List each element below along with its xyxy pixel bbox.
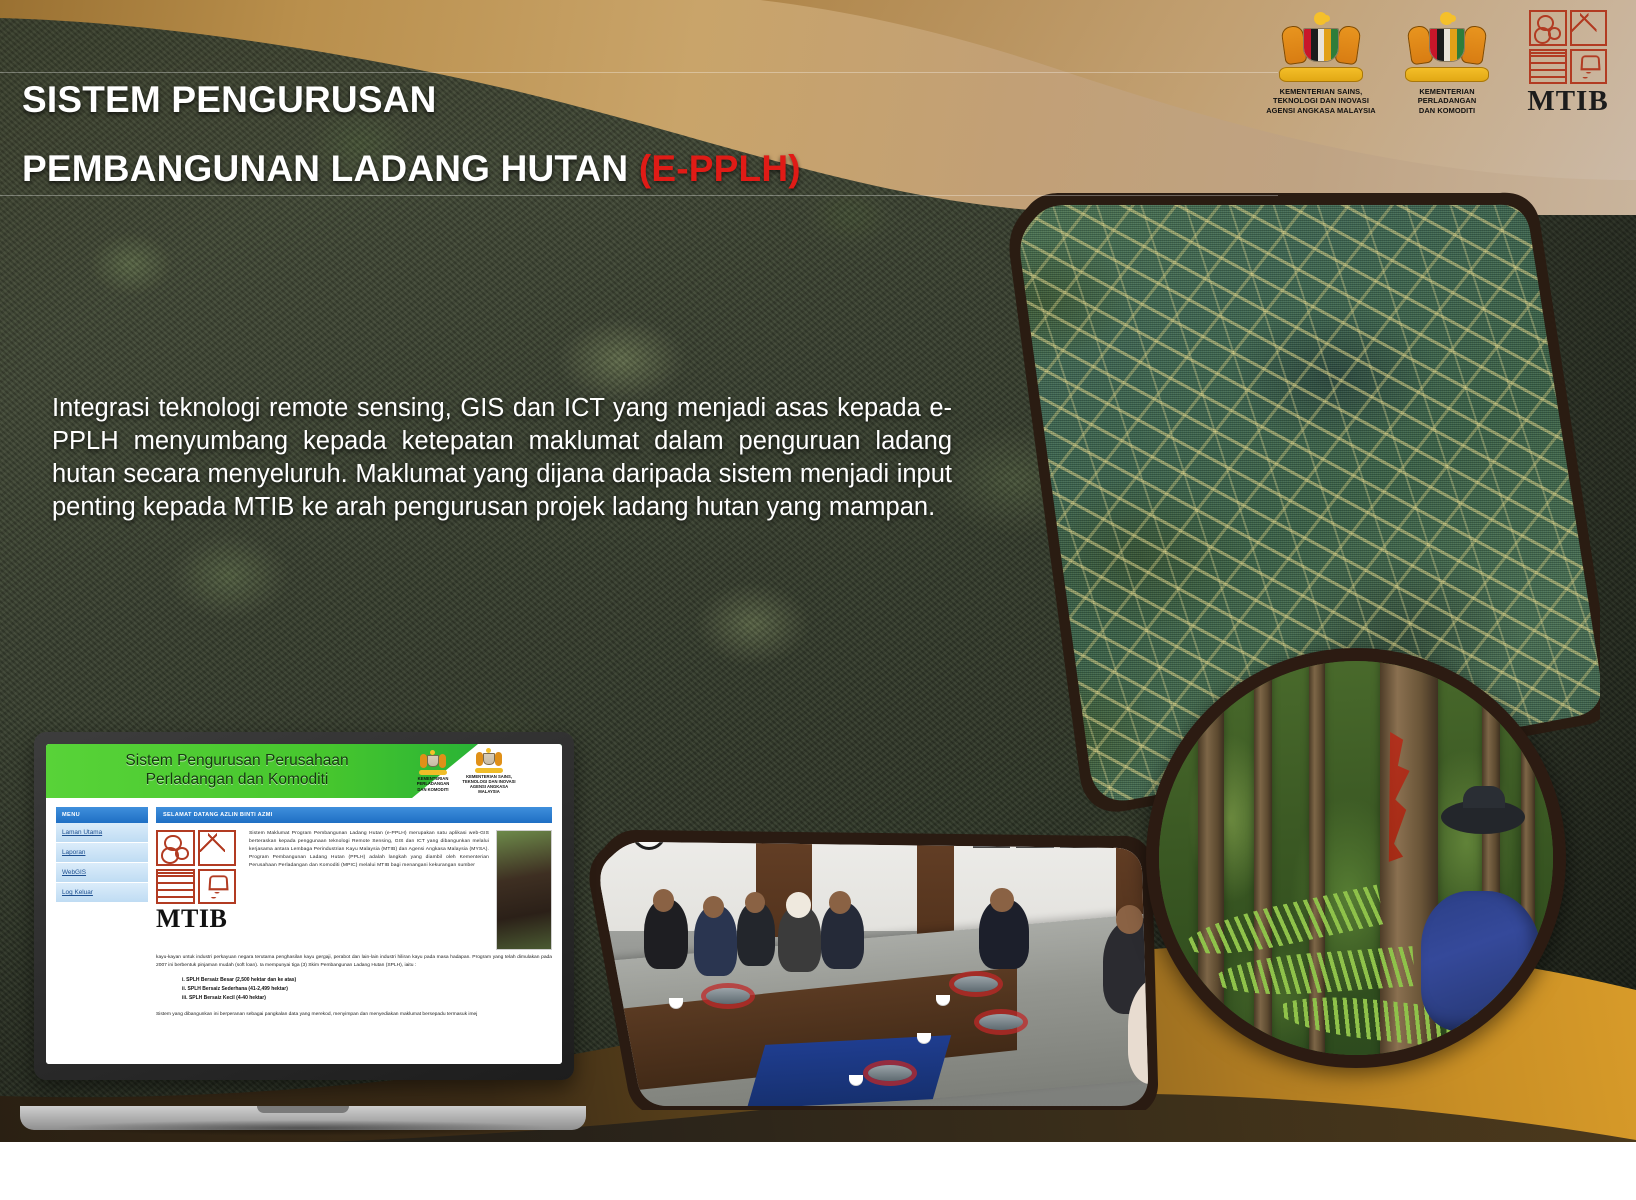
list-item: ii. SPLH Bersaiz Sederhana (41-2,499 hek… — [182, 985, 552, 994]
webapp-header: Sistem Pengurusan Perusahaan Perladangan… — [46, 744, 562, 798]
page-title-line-1: SISTEM PENGURUSAN — [22, 81, 1278, 118]
motto-ribbon-icon — [1405, 67, 1489, 82]
attendee-head — [786, 892, 811, 918]
attendee-head — [653, 889, 674, 911]
malaysia-crest-icon — [474, 748, 504, 774]
slide-root: SISTEM PENGURUSAN PEMBANGUNAN LADANG HUT… — [0, 0, 1636, 1200]
sidebar-item-laporan[interactable]: Laporan — [56, 843, 148, 863]
shield-icon — [1429, 28, 1465, 62]
laptop-mockup: Sistem Pengurusan Perusahaan Perladangan… — [20, 732, 586, 1132]
webapp-body: MENU Laman Utama Laporan WebGIS Log Kelu… — [46, 798, 562, 1064]
mtib-circles-glyph — [156, 830, 195, 866]
webapp-header-logos: KEMENTERIAN PERLADANGAN DAN KOMODITI KEM… — [410, 748, 562, 794]
webapp-main-content: SELAMAT DATANG AZLIN BINTI AZMI MTIB — [156, 807, 552, 1058]
webapp-mtib-logo: MTIB — [156, 830, 242, 950]
refreshment-tray — [954, 976, 998, 992]
caption-line: AGENSI ANGKASA MALAYSIA — [460, 784, 518, 794]
meeting-room-photo — [570, 790, 1190, 1110]
forest-field-survey-photo — [1146, 648, 1566, 1068]
logo-row: KEMENTERIAN SAINS, TEKNOLOGI DAN INOVASI… — [1266, 10, 1618, 118]
webapp-paragraph-tail: kayu-kayan untuk industri perkayuan nega… — [156, 954, 552, 970]
motto-ribbon-icon — [1279, 67, 1363, 82]
mtib-wordmark: MTIB — [1527, 85, 1608, 118]
laptop-screen: Sistem Pengurusan Perusahaan Perladangan… — [46, 744, 562, 1064]
refreshment-tray — [979, 1014, 1023, 1030]
webapp-title-line-1: Sistem Pengurusan Perusahaan — [64, 752, 410, 771]
mtib-wave-glyph — [1570, 49, 1608, 85]
mtib-zigzag-glyph — [1570, 10, 1608, 46]
logo-caption-line: KEMENTERIAN PERLADANGAN — [1392, 87, 1502, 106]
logo-caption-line: TEKNOLOGI DAN INOVASI — [1266, 96, 1375, 105]
menu-header: MENU — [56, 807, 148, 823]
logo-caption: KEMENTERIAN SAINS, TEKNOLOGI DAN INOVASI… — [1266, 87, 1375, 115]
tree-trunk — [1198, 648, 1224, 1068]
webapp-title: Sistem Pengurusan Perusahaan Perladangan… — [46, 752, 410, 790]
webapp-logo-angkasa: KEMENTERIAN SAINS, TEKNOLOGI DAN INOVASI… — [460, 748, 518, 794]
malaysia-crest-icon — [418, 750, 448, 776]
list-item: i. SPLH Bersaiz Besar (2,500 hektar dan … — [182, 976, 552, 985]
chairperson-head — [990, 888, 1014, 912]
webapp-logo-caption: KEMENTERIAN PERLADANGAN DAN KOMODITI — [410, 776, 456, 791]
page-title-accent: (E-PPLH) — [639, 148, 801, 189]
body-paragraph: Integrasi teknologi remote sensing, GIS … — [52, 392, 952, 524]
refreshment-tray — [868, 1065, 912, 1081]
webapp-paragraph-main: Sistem Maklumat Program Pembangunan Lada… — [249, 830, 489, 950]
webapp-content-row: MTIB Sistem Maklumat Program Pembangunan… — [156, 830, 552, 950]
mtib-zigzag-glyph — [198, 830, 237, 866]
laptop-shadow — [54, 1120, 554, 1136]
kementerian-perladangan-komoditi-logo: KEMENTERIAN PERLADANGAN DAN KOMODITI — [1392, 10, 1502, 115]
welcome-banner: SELAMAT DATANG AZLIN BINTI AZMI — [156, 807, 552, 823]
logo-caption-line: KEMENTERIAN SAINS, — [1266, 87, 1375, 96]
mtib-mark-icon — [1529, 10, 1607, 84]
sidebar-item-laman-utama[interactable]: Laman Utama — [56, 823, 148, 843]
slide-title-block: SISTEM PENGURUSAN PEMBANGUNAN LADANG HUT… — [0, 72, 1278, 196]
field-officer — [1421, 891, 1541, 1031]
sidebar-item-log-keluar[interactable]: Log Keluar — [56, 883, 148, 903]
agensi-angkasa-malaysia-logo: KEMENTERIAN SAINS, TEKNOLOGI DAN INOVASI… — [1266, 10, 1376, 115]
mtib-lines-glyph — [1529, 49, 1567, 85]
crescent-star-icon — [1314, 12, 1327, 25]
mtib-wordmark: MTIB — [156, 906, 242, 932]
list-item: iii. SPLH Bersaiz Kecil (4-40 hektar) — [182, 994, 552, 1003]
mtib-circles-glyph — [1529, 10, 1567, 46]
caption-line: KEMENTERIAN PERLADANGAN — [410, 776, 456, 786]
webapp-logo-perladangan: KEMENTERIAN PERLADANGAN DAN KOMODITI — [410, 750, 456, 791]
meeting-room-scene — [570, 790, 1190, 1110]
caption-line: DAN KOMODITI — [410, 787, 456, 792]
webapp-title-line-2: Perladangan dan Komoditi — [64, 771, 410, 790]
bottom-white-strip — [0, 1142, 1636, 1200]
logo-caption: KEMENTERIAN PERLADANGAN DAN KOMODITI — [1392, 87, 1502, 115]
laptop-lid: Sistem Pengurusan Perusahaan Perladangan… — [34, 732, 574, 1080]
mtib-logo: MTIB — [1518, 10, 1618, 118]
logo-caption-line: AGENSI ANGKASA MALAYSIA — [1266, 106, 1375, 115]
shield-icon — [1303, 28, 1339, 62]
mtib-wave-glyph — [198, 869, 237, 905]
webapp-side-photo — [496, 830, 552, 950]
malaysia-crest-icon — [1399, 10, 1495, 84]
logo-caption-line: DAN KOMODITI — [1392, 106, 1502, 115]
mtib-mark-icon — [156, 830, 236, 904]
page-title-line-2: PEMBANGUNAN LADANG HUTAN (E-PPLH) — [22, 150, 1278, 187]
tree-trunk — [1254, 648, 1272, 1068]
webapp-paragraph-footer: Sistem yang dibangunkan ini berperanan s… — [156, 1011, 552, 1019]
webapp-sidebar-menu: MENU Laman Utama Laporan WebGIS Log Kelu… — [56, 807, 148, 1058]
attendee-head — [1116, 905, 1143, 934]
webapp-logo-caption: KEMENTERIAN SAINS, TEKNOLOGI DAN INOVASI… — [460, 774, 518, 794]
webapp-scheme-list: i. SPLH Bersaiz Besar (2,500 hektar dan … — [156, 976, 552, 1004]
blue-carpet — [747, 1035, 951, 1109]
sidebar-item-webgis[interactable]: WebGIS — [56, 863, 148, 883]
mtib-lines-glyph — [156, 869, 195, 905]
crescent-star-icon — [1440, 12, 1453, 25]
attendee-head — [745, 892, 765, 913]
malaysia-crest-icon — [1273, 10, 1369, 84]
page-title-text: PEMBANGUNAN LADANG HUTAN — [22, 148, 628, 189]
